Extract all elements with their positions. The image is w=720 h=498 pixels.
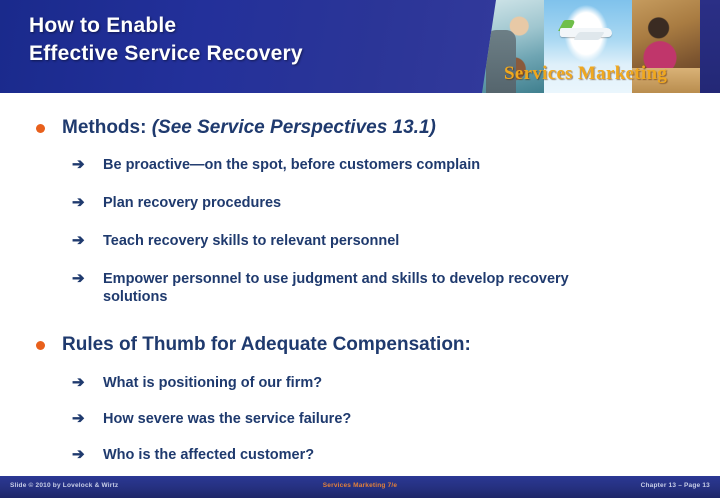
slide-body: Methods: (See Service Perspectives 13.1)…	[0, 93, 720, 476]
list-item-label: Empower personnel to use judgment and sk…	[103, 271, 569, 305]
arrow-right-icon: ➔	[72, 156, 85, 174]
arrow-right-icon: ➔	[72, 374, 85, 392]
section-1-heading-italic: (See Service Perspectives 13.1)	[152, 117, 436, 138]
slide-title: How to EnableEffective Service Recovery	[29, 12, 303, 68]
list-item: ➔Be proactive—on the spot, before custom…	[0, 156, 700, 174]
section-2-heading: Rules of Thumb for Adequate Compensation…	[0, 333, 700, 357]
list-item-label: Be proactive—on the spot, before custome…	[103, 157, 480, 173]
brand-overlay-text: Services Marketing	[504, 63, 702, 85]
list-item: ➔Empower personnel to use judgment and s…	[0, 270, 640, 306]
arrow-right-icon: ➔	[72, 410, 85, 428]
header-photo-collage: Services Marketing	[482, 0, 702, 93]
list-item: ➔What is positioning of our firm?	[0, 374, 700, 392]
list-item-label: Who is the affected customer?	[103, 447, 314, 463]
airplane-icon	[560, 20, 616, 42]
slide-header: How to EnableEffective Service Recovery …	[0, 0, 720, 93]
arrow-right-icon: ➔	[72, 446, 85, 464]
list-item: ➔How severe was the service failure?	[0, 410, 700, 428]
arrow-right-icon: ➔	[72, 270, 85, 288]
arrow-right-icon: ➔	[72, 232, 85, 250]
footer-book-title: Services Marketing 7/e	[0, 482, 720, 489]
section-1-heading-main: Methods:	[62, 117, 152, 138]
arrow-right-icon: ➔	[72, 194, 85, 212]
slide-title-line-1: How to Enable	[29, 14, 176, 37]
list-item-label: What is positioning of our firm?	[103, 375, 322, 391]
bullet-dot-icon	[36, 124, 45, 133]
section-2-heading-main: Rules of Thumb for Adequate Compensation…	[62, 334, 471, 355]
bullet-dot-icon	[36, 341, 45, 350]
list-item: ➔Who is the affected customer?	[0, 446, 700, 464]
list-item: ➔Teach recovery skills to relevant perso…	[0, 232, 700, 250]
footer-page-number: Chapter 13 – Page 13	[641, 482, 710, 489]
slide: How to EnableEffective Service Recovery …	[0, 0, 720, 498]
section-1-heading: Methods: (See Service Perspectives 13.1)	[0, 116, 700, 140]
list-item-label: Plan recovery procedures	[103, 195, 281, 211]
list-item-label: Teach recovery skills to relevant person…	[103, 233, 399, 249]
list-item: ➔Plan recovery procedures	[0, 194, 700, 212]
header-right-edge	[700, 0, 720, 93]
slide-footer: Slide © 2010 by Lovelock & Wirtz Service…	[0, 476, 720, 498]
slide-title-line-2: Effective Service Recovery	[29, 42, 303, 65]
list-item-label: How severe was the service failure?	[103, 411, 351, 427]
